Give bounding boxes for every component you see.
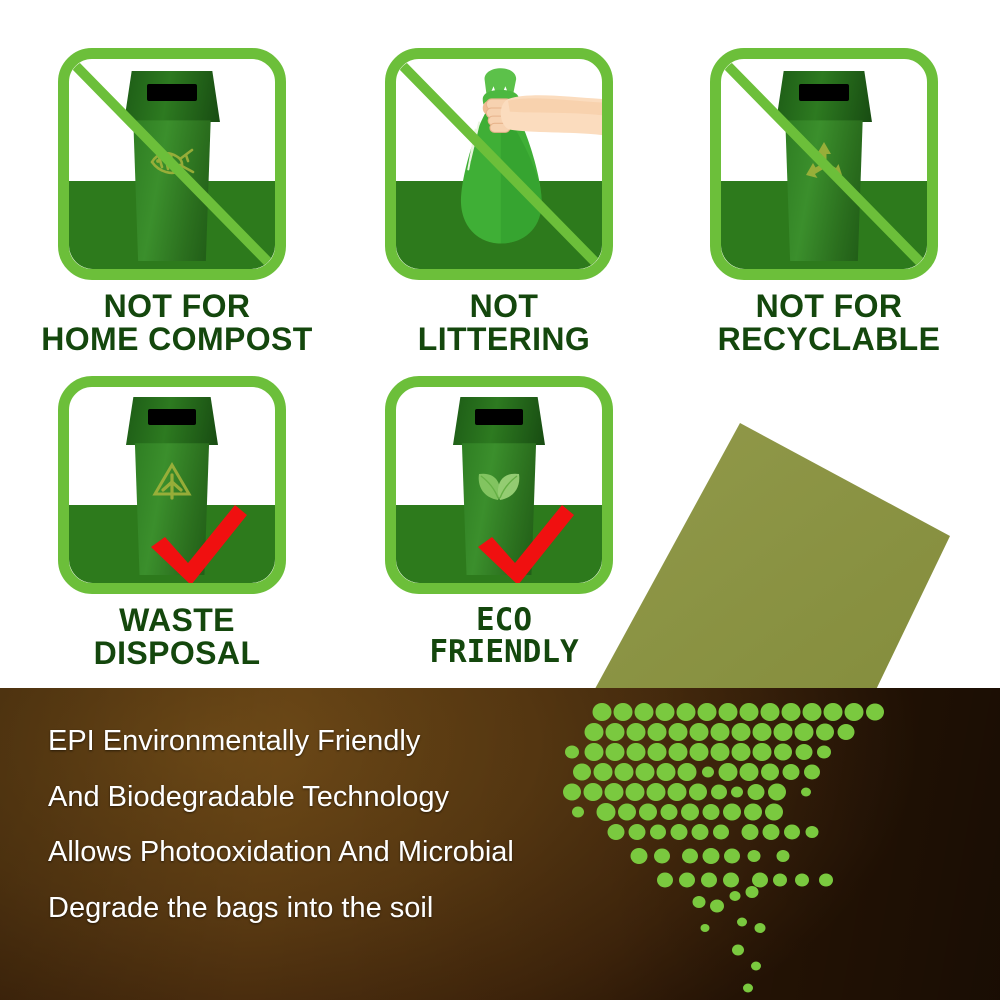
red-check-icon <box>147 503 251 583</box>
recycle-triangle-icon <box>801 139 847 185</box>
icon-scene <box>396 387 602 583</box>
bin-body <box>132 120 213 261</box>
icon-frame <box>58 48 286 280</box>
icon-scene <box>396 59 602 269</box>
icon-frame <box>710 48 938 280</box>
icon-card-not-for-home-compost[interactable]: NOT FOR HOME COMPOST <box>58 48 296 358</box>
two-leaves-icon <box>475 462 523 502</box>
bin-slot <box>799 84 849 101</box>
icon-label: NOT FOR RECYCLABLE <box>679 290 979 357</box>
hand-holding-garbage-bag-icon <box>396 59 602 269</box>
tidyman-icon <box>150 460 194 504</box>
icon-frame <box>385 376 613 594</box>
icon-scene <box>69 387 275 583</box>
icon-scene <box>721 59 927 269</box>
soil-banner: EPI Environmentally Friendly And Biodegr… <box>0 688 1000 1000</box>
trash-bin-icon <box>776 71 872 261</box>
red-check-icon <box>474 503 578 583</box>
olive-bag-illustration <box>590 408 1000 698</box>
icon-card-waste-disposal[interactable]: WASTE DISPOSAL <box>58 376 296 676</box>
bin-slot <box>148 409 196 425</box>
icon-frame <box>385 48 613 280</box>
icon-label: NOT FOR HOME COMPOST <box>27 290 327 357</box>
banner-text: EPI Environmentally Friendly And Biodegr… <box>48 714 648 937</box>
icon-card-not-for-recyclable[interactable]: NOT FOR RECYCLABLE <box>710 48 948 358</box>
banner-line-2: And Biodegradable Technology <box>48 770 648 826</box>
banner-line-4: Degrade the bags into the soil <box>48 881 648 937</box>
icon-card-eco-friendly[interactable]: ECO FRIENDLY <box>385 376 623 676</box>
icon-label: WASTE DISPOSAL <box>27 604 327 671</box>
infographic-canvas: NOT FOR HOME COMPOST <box>0 0 1000 1000</box>
icon-card-not-littering[interactable]: NOT LITTERING <box>385 48 623 358</box>
bin-slot <box>475 409 523 425</box>
banner-line-3: Allows Photooxidation And Microbial <box>48 825 648 881</box>
icon-frame <box>58 376 286 594</box>
bin-slot <box>147 84 197 101</box>
fish-bone-icon <box>146 145 198 179</box>
banner-line-1: EPI Environmentally Friendly <box>48 714 648 770</box>
icon-scene <box>69 59 275 269</box>
trash-bin-icon <box>124 71 220 261</box>
icon-label: NOT LITTERING <box>354 290 654 357</box>
